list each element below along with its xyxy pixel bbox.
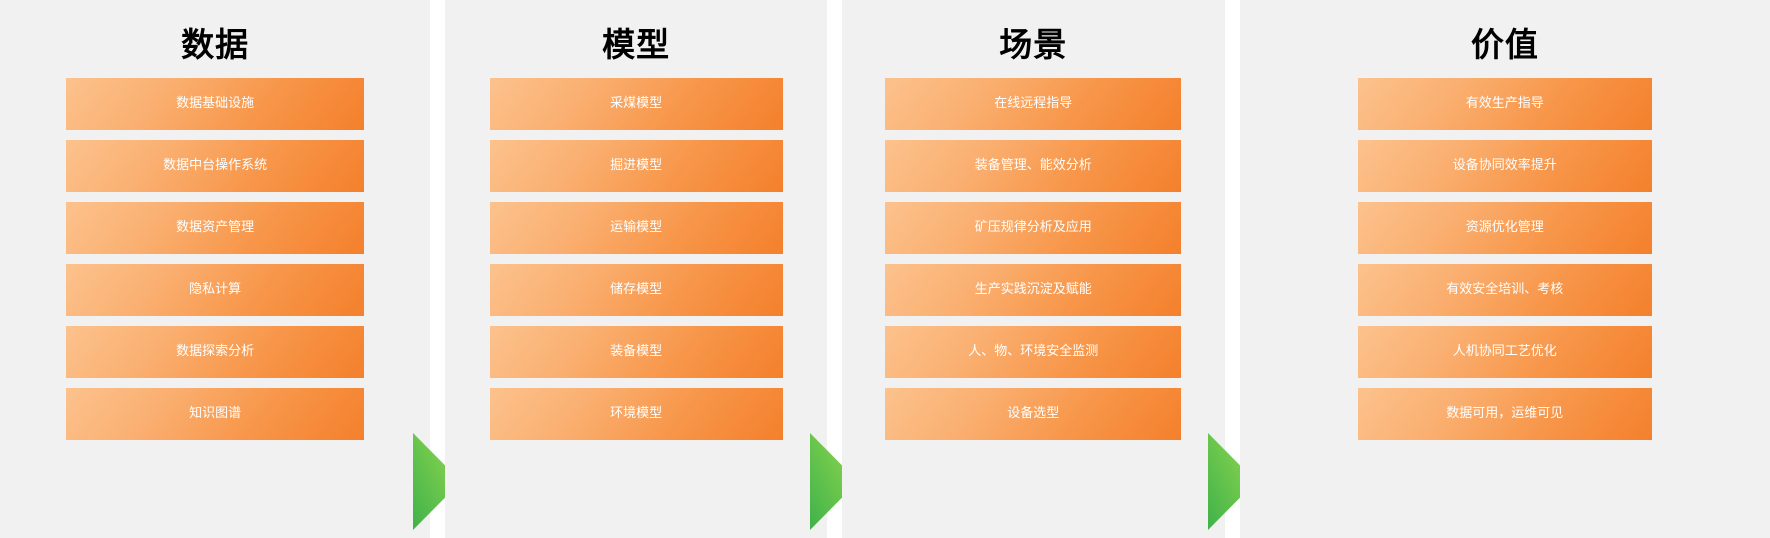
stage-item-chip[interactable]: 储存模型	[490, 264, 783, 316]
column-title: 价值	[1471, 28, 1539, 61]
column-title: 场景	[999, 28, 1067, 61]
stage-item-chip[interactable]: 人、物、环境安全监测	[885, 326, 1181, 378]
column-item-list: 数据基础设施 数据中台操作系统 数据资产管理 隐私计算 数据探索分析 知识图谱	[0, 78, 430, 440]
stage-item-chip[interactable]: 运输模型	[490, 202, 783, 254]
stage-item-chip[interactable]: 生产实践沉淀及赋能	[885, 264, 1181, 316]
stage-item-chip[interactable]: 有效生产指导	[1358, 78, 1652, 130]
stage-item-chip[interactable]: 数据探索分析	[66, 326, 364, 378]
stage-item-chip[interactable]: 设备选型	[885, 388, 1181, 440]
stage-item-chip[interactable]: 有效安全培训、考核	[1358, 264, 1652, 316]
stage-item-chip[interactable]: 数据可用，运维可见	[1358, 388, 1652, 440]
column-gap	[430, 0, 445, 538]
column-title: 数据	[181, 28, 249, 61]
stage-item-chip[interactable]: 装备模型	[490, 326, 783, 378]
stage-item-chip[interactable]: 装备管理、能效分析	[885, 140, 1181, 192]
stage-item-chip[interactable]: 资源优化管理	[1358, 202, 1652, 254]
stage-item-chip[interactable]: 隐私计算	[66, 264, 364, 316]
column-item-list: 在线远程指导 装备管理、能效分析 矿压规律分析及应用 生产实践沉淀及赋能 人、物…	[842, 78, 1225, 440]
stage-column-scene: 场景 在线远程指导 装备管理、能效分析 矿压规律分析及应用 生产实践沉淀及赋能 …	[842, 0, 1225, 538]
stage-column-value: 价值 有效生产指导 设备协同效率提升 资源优化管理 有效安全培训、考核 人机协同…	[1240, 0, 1770, 538]
column-gap	[1225, 0, 1240, 538]
column-item-list: 采煤模型 掘进模型 运输模型 储存模型 装备模型 环境模型	[445, 78, 827, 440]
stage-item-chip[interactable]: 数据中台操作系统	[66, 140, 364, 192]
column-item-list: 有效生产指导 设备协同效率提升 资源优化管理 有效安全培训、考核 人机协同工艺优…	[1240, 78, 1770, 440]
stage-item-chip[interactable]: 在线远程指导	[885, 78, 1181, 130]
stage-column-model: 模型 采煤模型 掘进模型 运输模型 储存模型 装备模型 环境模型	[445, 0, 827, 538]
flow-diagram: 数据 数据基础设施 数据中台操作系统 数据资产管理 隐私计算 数据探索分析 知识…	[0, 0, 1770, 538]
stage-item-chip[interactable]: 掘进模型	[490, 140, 783, 192]
stage-item-chip[interactable]: 矿压规律分析及应用	[885, 202, 1181, 254]
stage-column-data: 数据 数据基础设施 数据中台操作系统 数据资产管理 隐私计算 数据探索分析 知识…	[0, 0, 430, 538]
stage-item-chip[interactable]: 采煤模型	[490, 78, 783, 130]
stage-item-chip[interactable]: 数据资产管理	[66, 202, 364, 254]
stage-item-chip[interactable]: 数据基础设施	[66, 78, 364, 130]
stage-item-chip[interactable]: 环境模型	[490, 388, 783, 440]
stage-item-chip[interactable]: 知识图谱	[66, 388, 364, 440]
column-gap	[827, 0, 842, 538]
stage-item-chip[interactable]: 设备协同效率提升	[1358, 140, 1652, 192]
stage-item-chip[interactable]: 人机协同工艺优化	[1358, 326, 1652, 378]
column-title: 模型	[602, 28, 670, 61]
